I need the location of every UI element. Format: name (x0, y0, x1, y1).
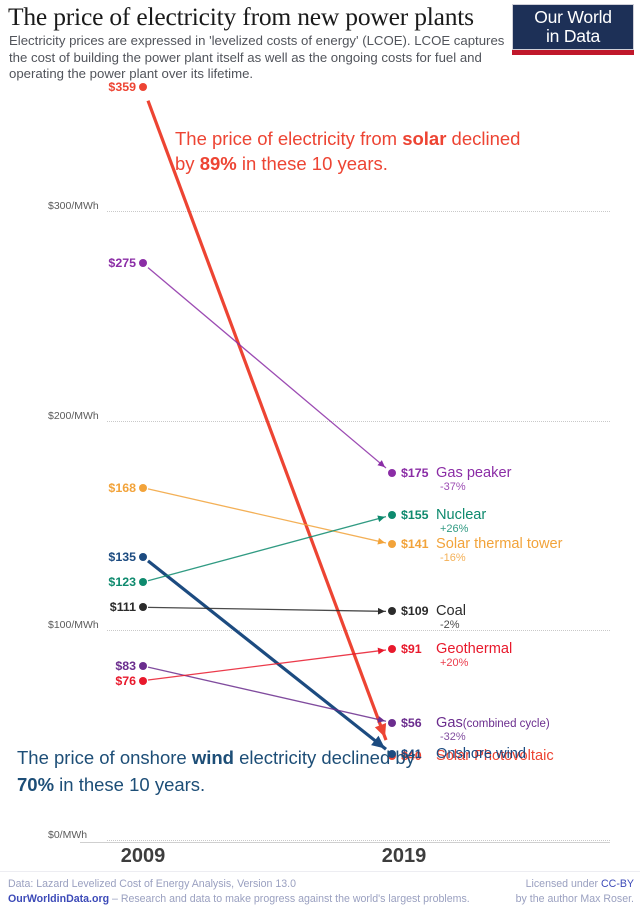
start-value-gas: $83 (60, 659, 136, 673)
arrowhead-geothermal (378, 648, 385, 655)
gridline-300 (107, 211, 610, 212)
start-value-geothermal: $76 (60, 674, 136, 688)
annotation-wind-bold2: 70% (17, 774, 54, 795)
annotation-solar-bold1: solar (402, 128, 446, 149)
x-tick-2019: 2019 (344, 845, 464, 868)
footer-right: Licensed under CC-BY by the author Max R… (516, 877, 634, 907)
change-pct-nuclear: +26% (440, 523, 468, 535)
point-geothermal-2009 (139, 677, 147, 685)
change-pct-geothermal: +20% (440, 657, 468, 669)
point-gas-peaker-2019 (388, 469, 396, 477)
change-pct-solar-thermal-tower: -16% (440, 552, 466, 564)
series-label-sub-gas: (combined cycle) (463, 718, 550, 730)
point-nuclear-2019 (388, 511, 396, 519)
page-subtitle: Electricity prices are expressed in 'lev… (9, 33, 509, 83)
y-tick-label-200: $200/MWh (48, 410, 99, 422)
x-axis-line (80, 842, 610, 843)
annotation-wind-mid: electricity declined by (234, 747, 415, 768)
annotation-wind-pre: The price of onshore (17, 747, 192, 768)
line-nuclear (148, 517, 386, 581)
footer-license-pre: Licensed under (526, 878, 601, 890)
gridline-0 (107, 840, 610, 841)
point-coal-2009 (139, 603, 147, 611)
chart-page: The price of electricity from new power … (0, 0, 640, 914)
start-value-gas-peaker: $275 (60, 256, 136, 270)
line-coal (148, 607, 386, 611)
point-gas-peaker-2009 (139, 259, 147, 267)
line-gas (148, 667, 386, 721)
line-solar-thermal-tower (148, 489, 386, 543)
y-tick-label-300: $300/MWh (48, 200, 99, 212)
point-nuclear-2009 (139, 578, 147, 586)
annotation-solar-post: in these 10 years. (237, 153, 388, 174)
annotation-solar-pre: The price of electricity from (175, 128, 402, 149)
series-label-text-gas: Gas (436, 715, 463, 731)
end-value-solar-thermal-tower: $141 (401, 537, 429, 551)
footer-data-source: Data: Lazard Levelized Cost of Energy An… (8, 877, 470, 892)
change-pct-coal: -2% (440, 619, 460, 631)
point-solar-thermal-tower-2009 (139, 484, 147, 492)
start-value-coal: $111 (60, 600, 136, 614)
point-geothermal-2019 (388, 645, 396, 653)
series-label-text-gas-peaker: Gas peaker (436, 465, 511, 481)
change-pct-gas-peaker: -37% (440, 481, 466, 493)
start-value-onshore-wind: $135 (60, 550, 136, 564)
page-title: The price of electricity from new power … (8, 2, 474, 32)
series-label-text-onshore-wind: Onshore wind (436, 746, 526, 762)
start-value-solar-thermal-tower: $168 (60, 481, 136, 495)
series-label-coal: Coal (436, 603, 466, 619)
series-label-solar-thermal-tower: Solar thermal tower (436, 536, 563, 552)
arrowhead-solar-photovoltaic (375, 723, 386, 737)
start-value-solar-photovoltaic: $359 (60, 80, 136, 94)
series-label-gas: Gas(combined cycle) (436, 715, 550, 731)
y-tick-label-100: $100/MWh (48, 619, 99, 631)
series-label-nuclear: Nuclear (436, 507, 486, 523)
gridline-100 (107, 630, 610, 631)
annotation-wind: The price of onshore wind electricity de… (17, 744, 417, 798)
point-onshore-wind-2009 (139, 553, 147, 561)
owid-logo-accent-bar (512, 50, 634, 55)
footer-author: by the author Max Roser. (516, 892, 634, 907)
arrowhead-solar-thermal-tower (377, 538, 385, 545)
series-label-text-nuclear: Nuclear (436, 507, 486, 523)
arrowhead-gas-peaker (377, 460, 385, 467)
gridline-200 (107, 421, 610, 422)
point-gas-2019 (388, 719, 396, 727)
series-label-gas-peaker: Gas peaker (436, 465, 511, 481)
footer-site-link[interactable]: OurWorldinData.org (8, 893, 109, 905)
arrowhead-gas (377, 716, 385, 723)
owid-logo-line1: Our World (513, 8, 633, 27)
owid-logo[interactable]: Our World in Data (512, 4, 634, 50)
line-geothermal (148, 650, 386, 680)
arrowhead-nuclear (377, 515, 385, 522)
annotation-solar: The price of electricity from solar decl… (175, 126, 535, 176)
point-gas-2009 (139, 662, 147, 670)
owid-logo-line2: in Data (513, 27, 633, 46)
footer-license-link[interactable]: CC-BY (601, 878, 634, 890)
end-value-gas-peaker: $175 (401, 466, 429, 480)
y-tick-label-0: $0/MWh (48, 829, 87, 841)
end-value-gas: $56 (401, 716, 422, 730)
footer-left: Data: Lazard Levelized Cost of Energy An… (8, 877, 470, 907)
annotation-wind-post: in these 10 years. (54, 774, 205, 795)
footer-tagline: – Research and data to make progress aga… (109, 893, 470, 905)
change-pct-gas: -32% (440, 731, 466, 743)
point-solar-thermal-tower-2019 (388, 540, 396, 548)
line-onshore-wind (148, 561, 386, 749)
line-gas-peaker (148, 268, 386, 468)
series-label-text-geothermal: Geothermal (436, 641, 512, 657)
point-solar-photovoltaic-2009 (139, 83, 147, 91)
annotation-wind-bold1: wind (192, 747, 234, 768)
arrowhead-coal (378, 608, 385, 615)
end-value-nuclear: $155 (401, 508, 429, 522)
series-label-onshore-wind: Onshore wind (436, 746, 526, 762)
series-label-text-coal: Coal (436, 603, 466, 619)
start-value-nuclear: $123 (60, 575, 136, 589)
series-label-geothermal: Geothermal (436, 641, 512, 657)
end-value-geothermal: $91 (401, 642, 422, 656)
footer-divider (0, 871, 640, 872)
annotation-solar-bold2: 89% (200, 153, 237, 174)
x-tick-2009: 2009 (83, 845, 203, 868)
point-coal-2019 (388, 607, 396, 615)
end-value-coal: $109 (401, 604, 429, 618)
series-label-text-solar-thermal-tower: Solar thermal tower (436, 536, 563, 552)
